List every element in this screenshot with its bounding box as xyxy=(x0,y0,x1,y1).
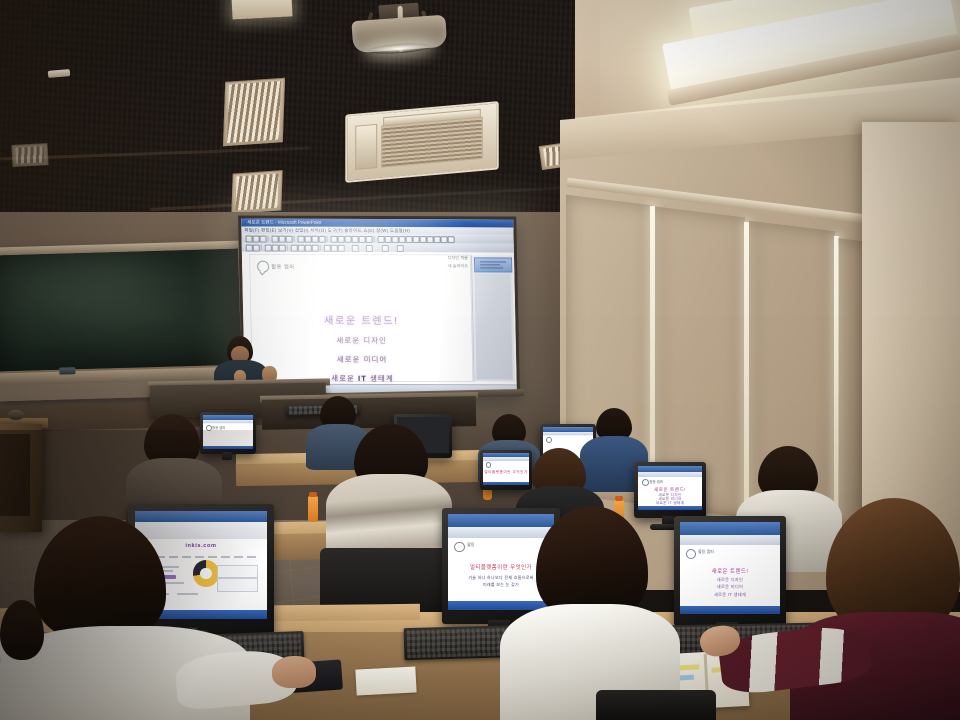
mon-logo-label: 활용 캠퍼 xyxy=(650,479,663,484)
ppt-workspace: 활용 캠퍼 새로운 트렌드! 새로운 디자인 새로운 미디어 새로운 IT 생태… xyxy=(242,252,517,386)
glasses-icon xyxy=(762,462,778,473)
ppt-task-label-2[interactable]: 새 슬라이드 xyxy=(448,263,469,269)
wooden-cabinet xyxy=(0,424,42,532)
air-vent-icon xyxy=(231,170,282,214)
ppt-task-label[interactable]: 디자인 적용 xyxy=(448,255,469,261)
drink-bottle[interactable] xyxy=(308,496,318,522)
slide-panel-empty xyxy=(474,273,512,379)
slide-thumbnail-selected[interactable] xyxy=(474,257,512,272)
air-vent-icon xyxy=(223,78,285,146)
mon-logo-label: 활용 캠퍼 xyxy=(212,425,225,430)
projector-icon xyxy=(350,1,447,57)
air-vent-icon xyxy=(11,143,48,167)
current-slide[interactable]: 활용 캠퍼 새로운 트렌드! 새로운 디자인 새로운 미디어 새로운 IT 생태… xyxy=(250,255,473,382)
chalk-eraser[interactable] xyxy=(59,367,75,374)
paper-sheet[interactable] xyxy=(355,666,416,695)
chalk-residue xyxy=(0,249,241,372)
foreground-hand xyxy=(272,656,316,688)
mon-slide-line-3: 새로운 IT 생태계 xyxy=(680,592,780,598)
ppt-title-text: 새로운 트렌드 - Microsoft PowerPoint xyxy=(247,219,321,225)
chalkboard-surface xyxy=(0,249,241,372)
slide-logo-label: 활용 캠퍼 xyxy=(271,263,295,271)
slide-heading: 새로운 트렌드! xyxy=(251,317,471,328)
ac-grille xyxy=(381,117,483,168)
mon-slide-heading: 멀티플랫폼이란 무엇인가 xyxy=(483,470,529,475)
slide-thumbnail-panel[interactable] xyxy=(471,255,515,381)
slide-line-1: 새로운 디자인 xyxy=(252,335,472,347)
mon-slide-heading: 새로운 트렌드! xyxy=(680,567,780,575)
monitor-front-right: 활용 캠퍼 새로운 트렌드! 새로운 디자인 새로운 미디어 새로운 IT 생태… xyxy=(674,516,786,626)
monitor-row2-left: 멀티플랫폼이란 무엇인가 xyxy=(480,450,532,490)
monitor-back-left: 활용 캠퍼 xyxy=(200,412,256,454)
mon-logo-label: 활용 xyxy=(467,542,474,548)
ac-vane xyxy=(355,124,377,170)
classroom-photo-scene: 새로운 트렌드 - Microsoft PowerPoint 파일(F) 편집(… xyxy=(0,0,960,720)
bottle-cap xyxy=(309,492,317,497)
ceiling-light-panel xyxy=(231,0,292,20)
speech-bubble-icon xyxy=(257,261,269,273)
bottle-cap xyxy=(615,496,623,501)
mon-logo-label: 활용 캠퍼 xyxy=(698,549,714,555)
projection-surface: 새로운 트렌드 - Microsoft PowerPoint 파일(F) 편집(… xyxy=(241,219,517,394)
monitor-row2-center: 활용 캠퍼 새로운 트렌드! 새로운 디자인 새로운 미디어 새로운 IT 생태… xyxy=(634,462,706,518)
projection-screen: 새로운 트렌드 - Microsoft PowerPoint 파일(F) 편집(… xyxy=(238,216,520,397)
air-conditioner-unit xyxy=(345,101,498,183)
slide-text-block: 새로운 트렌드! 새로운 디자인 새로운 미디어 새로운 IT 생태계 xyxy=(251,317,472,385)
cabinet-panel xyxy=(0,434,30,516)
slide-line-2: 새로운 미디어 xyxy=(252,354,472,366)
chalkboard xyxy=(0,243,248,402)
mouse-icon[interactable] xyxy=(8,410,24,420)
mon-slide-line-2: 새로운 미디어 xyxy=(680,584,780,590)
chair-back-foreground xyxy=(596,690,716,720)
monitor-stand xyxy=(222,452,232,460)
mon-slide-line-1: 새로운 디자인 xyxy=(680,577,780,583)
